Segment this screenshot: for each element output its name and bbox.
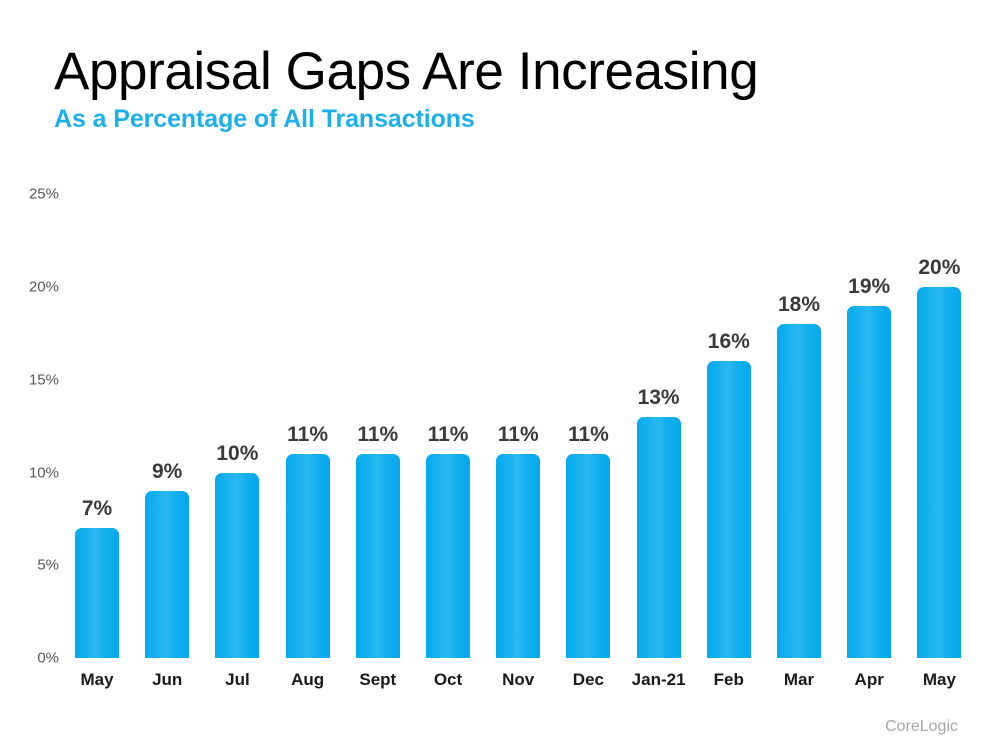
chart-plot-area: 0%5%10%15%20%25% 7%May9%Jun10%Jul11%Aug1… [0, 0, 1000, 750]
bar-group: 11%Sept [356, 0, 400, 750]
bar[interactable] [215, 473, 259, 659]
y-axis-tick-15pct: 15% [13, 371, 59, 388]
bar-group: 11%Aug [286, 0, 330, 750]
bar[interactable] [75, 528, 119, 658]
x-axis-label: Jan-21 [623, 670, 695, 690]
x-axis-label: May [903, 670, 975, 690]
bar-value-label: 11% [342, 423, 414, 447]
bar-value-label: 10% [201, 442, 273, 466]
bar-value-label: 11% [552, 423, 624, 447]
bar-value-label: 11% [482, 423, 554, 447]
bar[interactable] [847, 306, 891, 658]
bar-group: 11%Oct [426, 0, 470, 750]
x-axis-label: Sept [342, 670, 414, 690]
x-axis-label: Feb [693, 670, 765, 690]
x-axis-label: Oct [412, 670, 484, 690]
bar[interactable] [777, 324, 821, 658]
x-axis-label: May [61, 670, 133, 690]
x-axis-label: Nov [482, 670, 554, 690]
bar-value-label: 9% [131, 460, 203, 484]
bar-value-label: 7% [61, 497, 133, 521]
bar[interactable] [637, 417, 681, 658]
bar[interactable] [707, 361, 751, 658]
y-axis: 0%5%10%15%20%25% [13, 0, 59, 750]
slide-canvas: Appraisal Gaps Are Increasing As a Perce… [0, 0, 1000, 750]
bar-value-label: 13% [623, 386, 695, 410]
bar-group: 18%Mar [777, 0, 821, 750]
bar-group: 10%Jul [215, 0, 259, 750]
y-axis-tick-5pct: 5% [13, 557, 59, 574]
bar-group: 19%Apr [847, 0, 891, 750]
bar-value-label: 11% [272, 423, 344, 447]
bar-value-label: 19% [833, 275, 905, 299]
bar[interactable] [286, 454, 330, 658]
bar-group: 9%Jun [145, 0, 189, 750]
bar-value-label: 11% [412, 423, 484, 447]
y-axis-tick-25pct: 25% [13, 186, 59, 203]
bar-value-label: 20% [903, 256, 975, 280]
x-axis-label: Jul [201, 670, 273, 690]
x-axis-label: Dec [552, 670, 624, 690]
x-axis-label: Jun [131, 670, 203, 690]
y-axis-tick-20pct: 20% [13, 279, 59, 296]
bar-group: 11%Dec [566, 0, 610, 750]
bar-group: 7%May [75, 0, 119, 750]
y-axis-tick-10pct: 10% [13, 464, 59, 481]
bar[interactable] [496, 454, 540, 658]
source-attribution: CoreLogic [885, 718, 958, 736]
bar-group: 11%Nov [496, 0, 540, 750]
bar[interactable] [426, 454, 470, 658]
x-axis-label: Aug [272, 670, 344, 690]
bar-group: 13%Jan-21 [637, 0, 681, 750]
bar[interactable] [566, 454, 610, 658]
y-axis-tick-0pct: 0% [13, 650, 59, 667]
bar[interactable] [145, 491, 189, 658]
bar-value-label: 18% [763, 293, 835, 317]
x-axis-label: Mar [763, 670, 835, 690]
bar-group: 16%Feb [707, 0, 751, 750]
bar[interactable] [356, 454, 400, 658]
bar-value-label: 16% [693, 330, 765, 354]
bar-group: 20%May [917, 0, 961, 750]
x-axis-label: Apr [833, 670, 905, 690]
bar[interactable] [917, 287, 961, 658]
